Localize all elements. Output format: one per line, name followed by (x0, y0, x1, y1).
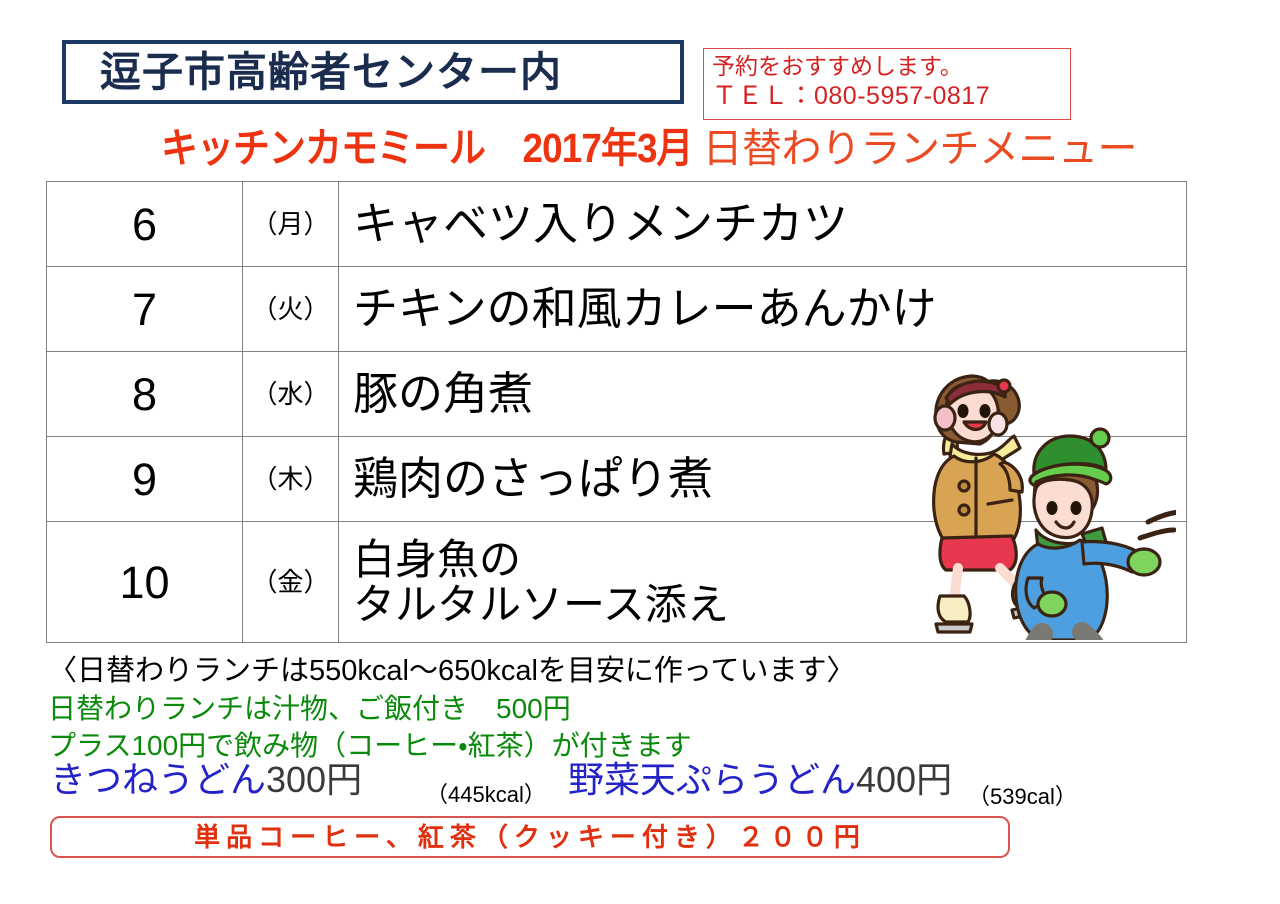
menu-dish: キャベツ入りメンチカツ (339, 182, 1187, 267)
menu-dish: チキンの和風カレーあんかけ (339, 267, 1187, 352)
menu-day: （火） (243, 267, 339, 352)
reservation-note: 予約をおすすめします。 (712, 52, 1070, 81)
udon-price: 300円 (266, 759, 362, 800)
menu-date: 6 (47, 182, 243, 267)
menu-poster: 逗子市高齢者センター内 予約をおすすめします。 ＴＥＬ：080-5957-081… (0, 0, 1280, 904)
menu-day: （水） (243, 352, 339, 437)
headline-spacer (504, 128, 513, 169)
menu-label: 日替わりランチメニュー (702, 127, 1137, 171)
menu-date: 7 (47, 267, 243, 352)
venue-title-box: 逗子市高齢者センター内 (62, 40, 684, 104)
menu-date: 9 (47, 437, 243, 522)
menu-date: 8 (47, 352, 243, 437)
menu-dish: 鶏肉のさっぱり煮 (339, 437, 1187, 522)
udon-price: 400円 (856, 759, 952, 800)
lunch-price-note: 日替わりランチは汁物、ご飯付き 500円 (48, 691, 1238, 728)
udon-item-kitsune: きつねうどん300円 (50, 762, 362, 798)
menu-date: 10 (47, 522, 243, 643)
header: 逗子市高齢者センター内 予約をおすすめします。 ＴＥＬ：080-5957-081… (0, 40, 1280, 118)
reservation-phone: ＴＥＬ：080-5957-0817 (712, 81, 1070, 112)
table-row: 6 （月） キャベツ入りメンチカツ (47, 182, 1187, 267)
venue-title: 逗子市高齢者センター内 (100, 52, 562, 93)
udon-item-yasaitenpura: 野菜天ぷらうどん400円 (568, 762, 952, 798)
menu-day: （木） (243, 437, 339, 522)
table-row: 9 （木） 鶏肉のさっぱり煮 (47, 437, 1187, 522)
table-row: 8 （水） 豚の角煮 (47, 352, 1187, 437)
table-row: 7 （火） チキンの和風カレーあんかけ (47, 267, 1187, 352)
headline: キッチンカモミール 2017年3月日替わりランチメニュー (0, 128, 1280, 169)
daily-menu-table: 6 （月） キャベツ入りメンチカツ 7 （火） チキンの和風カレーあんかけ 8 … (46, 181, 1187, 643)
menu-dish: 白身魚の タルタルソース添え (339, 522, 1187, 643)
menu-day: （月） (243, 182, 339, 267)
udon-name: 野菜天ぷらうどん (568, 759, 856, 800)
coffee-banner: 単品コーヒー、紅茶（クッキー付き）２００円 (50, 816, 1010, 858)
menu-day: （金） (243, 522, 339, 643)
reservation-box: 予約をおすすめします。 ＴＥＬ：080-5957-0817 (703, 48, 1071, 120)
menu-dish-line1: 白身魚の (353, 536, 521, 583)
table-row: 10 （金） 白身魚の タルタルソース添え (47, 522, 1187, 643)
udon-name: きつねうどん (50, 759, 266, 800)
menu-dish-line2: タルタルソース添え (353, 582, 1186, 627)
udon-kcal: （445kcal） (426, 784, 546, 806)
udon-items: きつねうどん300円 （445kcal） 野菜天ぷらうどん400円 （539ca… (48, 760, 1238, 808)
shop-name: キッチンカモミール (161, 128, 485, 169)
kcal-note: 〈日替わりランチは550kcal〜650kcalを目安に作っています〉 (48, 652, 1238, 691)
notes-block: 〈日替わりランチは550kcal〜650kcalを目安に作っています〉 日替わり… (48, 652, 1238, 765)
menu-period: 2017年3月 (523, 128, 693, 169)
coffee-banner-text: 単品コーヒー、紅茶（クッキー付き）２００円 (194, 824, 866, 850)
menu-dish: 豚の角煮 (339, 352, 1187, 437)
udon-kcal: （539cal） (968, 786, 1077, 808)
